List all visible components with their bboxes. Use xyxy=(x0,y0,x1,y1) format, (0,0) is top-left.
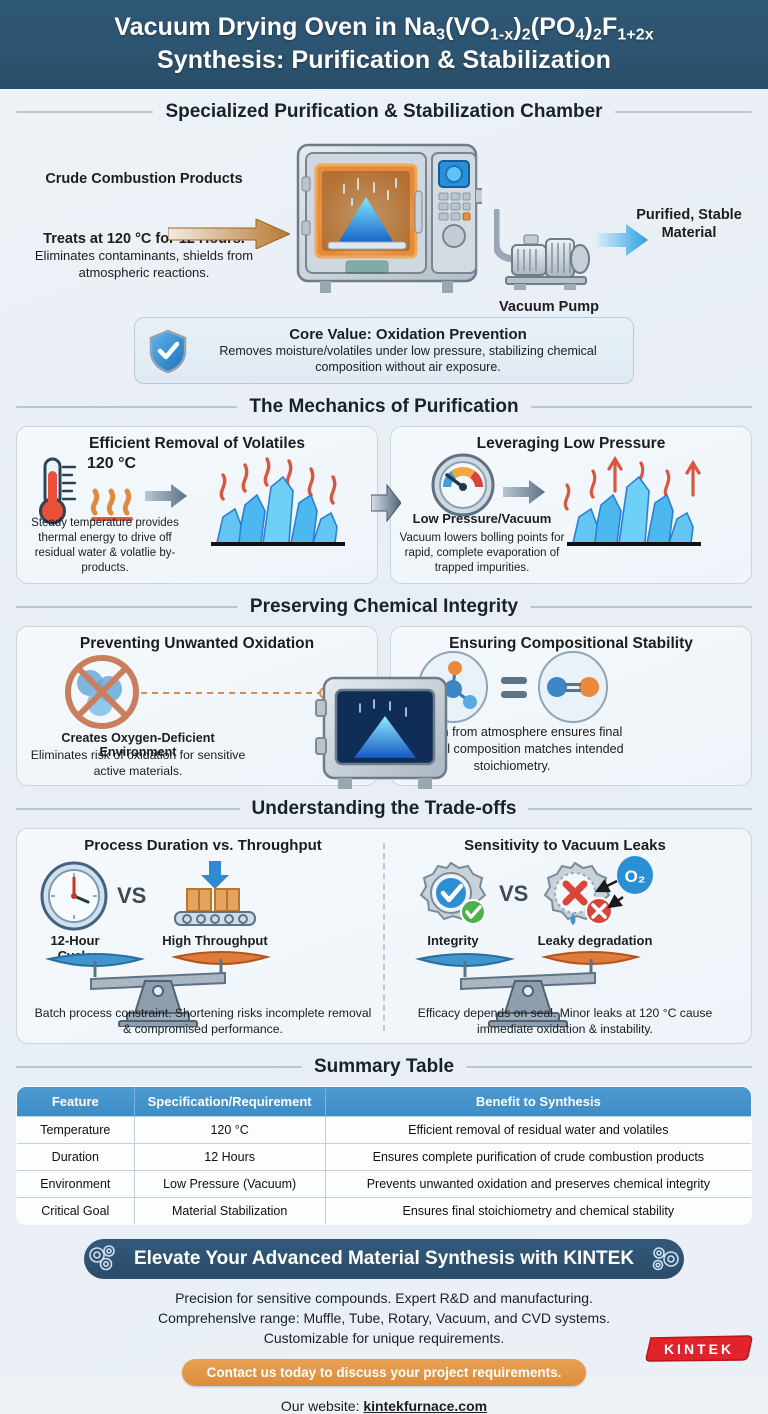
rule-right xyxy=(531,406,752,408)
card-description: Batch process constraint. Shortening ris… xyxy=(29,1006,377,1038)
website-prefix: Our website: xyxy=(281,1398,363,1414)
tradeoffs-card: Process Duration vs. Throughput VS xyxy=(16,828,752,1044)
right-pan-label: High Throughput xyxy=(155,933,275,948)
card-title: Sensitivity to Vacuum Leaks xyxy=(393,837,737,854)
cta-sub-line2: Comprehenslve range: Muffle, Tube, Rotar… xyxy=(0,1309,768,1329)
rule-left xyxy=(16,406,237,408)
card-title: Preventing Unwanted Oxidation xyxy=(27,635,367,653)
crude-input-label: Crude Combustion Products xyxy=(24,171,264,188)
rule-left xyxy=(16,111,153,113)
svg-text:KINTEK: KINTEK xyxy=(664,1341,734,1357)
crystal-vapor-icon xyxy=(545,445,721,549)
mechanics-row: Efficient Removal of Volatiles 120 °C xyxy=(0,426,768,584)
section-heading-chamber: Specialized Purification & Stabilization… xyxy=(0,101,768,123)
rule-right xyxy=(528,808,752,810)
card-description: Steady temperature provides thermal ener… xyxy=(25,516,185,576)
leak-degradation-icon: O₂ xyxy=(539,853,657,935)
page-header: Vacuum Drying Oven in Na3(VO1-x)2(PO4)2F… xyxy=(0,0,768,89)
right-arrow-icon xyxy=(503,479,545,505)
page-title-line2: Synthesis: Purification & Stabilization xyxy=(157,46,611,74)
cell-spec: Material Stabilization xyxy=(134,1198,325,1225)
tradeoff-vacuum-leaks: Sensitivity to Vacuum Leaks VS xyxy=(387,837,743,1037)
summary-table-wrap: Feature Specification/Requirement Benefi… xyxy=(0,1086,768,1225)
treats-description: Eliminates contaminants, shields from at… xyxy=(24,248,264,282)
col-specification: Specification/Requirement xyxy=(134,1087,325,1117)
output-label: Purified, Stable Material xyxy=(614,207,764,242)
core-value-box: Core Value: Oxidation Prevention Removes… xyxy=(134,317,634,384)
table-row: Duration 12 Hours Ensures complete purif… xyxy=(17,1144,752,1171)
table-row: Temperature 120 °C Efficient removal of … xyxy=(17,1117,752,1144)
shield-check-icon xyxy=(149,329,187,373)
summary-table: Feature Specification/Requirement Benefi… xyxy=(16,1086,752,1225)
cell-feature: Environment xyxy=(17,1171,135,1198)
card-low-pressure: Leveraging Low Pressure xyxy=(390,426,752,584)
table-body: Temperature 120 °C Efficient removal of … xyxy=(17,1117,752,1225)
section-heading-summary: Summary Table xyxy=(0,1056,768,1078)
chamber-diagram: Crude Combustion Products Treats at 120 … xyxy=(0,131,768,311)
crystal-evaporation-icon xyxy=(187,447,363,549)
website-line: Our website: kintekfurnace.com xyxy=(0,1398,768,1414)
cta-banner: Elevate Your Advanced Material Synthesis… xyxy=(84,1239,684,1279)
card-efficient-removal: Efficient Removal of Volatiles 120 °C xyxy=(16,426,378,584)
cta-title: Elevate Your Advanced Material Synthesis… xyxy=(134,1248,634,1270)
vacuum-pump-icon xyxy=(494,209,604,299)
clock-icon xyxy=(39,861,109,931)
card-subtitle: Low Pressure/Vacuum xyxy=(399,511,565,526)
cta-sub-line1: Precision for sensitive compounds. Exper… xyxy=(0,1289,768,1309)
pump-label: Vacuum Pump xyxy=(494,299,604,316)
cell-feature: Temperature xyxy=(17,1117,135,1144)
cell-benefit: Prevents unwanted oxidation and preserve… xyxy=(325,1171,751,1198)
integrity-seal-icon xyxy=(411,859,493,933)
gears-icon xyxy=(86,1245,120,1273)
connector-dashed-line xyxy=(141,687,331,699)
stage-arrow-icon xyxy=(371,484,401,522)
section-heading-tradeoffs: Understanding the Trade-offs xyxy=(0,798,768,820)
left-pan-label: Integrity xyxy=(403,933,503,948)
col-feature: Feature xyxy=(17,1087,135,1117)
col-benefit: Benefit to Synthesis xyxy=(325,1087,751,1117)
cell-feature: Critical Goal xyxy=(17,1198,135,1225)
no-oxygen-icon xyxy=(63,653,141,731)
chamber-output-block: Purified, Stable Material xyxy=(614,207,764,242)
table-row: Critical Goal Material Stabilization Ens… xyxy=(17,1198,752,1225)
sealed-oven-icon xyxy=(310,676,460,791)
svg-text:O₂: O₂ xyxy=(625,867,646,886)
section-title: Preserving Chemical Integrity xyxy=(250,596,518,618)
section-title: The Mechanics of Purification xyxy=(249,396,518,418)
input-arrow-icon xyxy=(168,219,290,249)
cell-benefit: Efficient removal of residual water and … xyxy=(325,1117,751,1144)
cell-feature: Duration xyxy=(17,1144,135,1171)
section-heading-mechanics: The Mechanics of Purification xyxy=(0,396,768,418)
rule-left xyxy=(16,606,238,608)
vacuum-oven-icon xyxy=(292,139,482,297)
cell-benefit: Ensures final stoichiometry and chemical… xyxy=(325,1198,751,1225)
pressure-gauge-icon xyxy=(431,453,495,517)
section-title: Specialized Purification & Stabilization… xyxy=(165,101,602,123)
rule-right xyxy=(530,606,752,608)
conveyor-throughput-icon xyxy=(161,859,269,931)
rule-right xyxy=(615,111,752,113)
card-description: Efficacy depends on seal. Minor leaks at… xyxy=(391,1006,739,1038)
cell-spec: Low Pressure (Vacuum) xyxy=(134,1171,325,1198)
cell-spec: 12 Hours xyxy=(134,1144,325,1171)
section-title: Summary Table xyxy=(314,1056,454,1078)
card-description: Eliminates risk of oxidation for sensiti… xyxy=(23,748,253,780)
section-heading-integrity: Preserving Chemical Integrity xyxy=(0,596,768,618)
card-title: Process Duration vs. Throughput xyxy=(31,837,375,854)
contact-button[interactable]: Contact us today to discuss your project… xyxy=(182,1359,586,1386)
temperature-value: 120 °C xyxy=(87,455,136,473)
gears-icon xyxy=(648,1245,682,1273)
core-value-title: Core Value: Oxidation Prevention xyxy=(197,326,619,343)
vertical-divider xyxy=(383,843,385,1031)
card-description: Vacuum lowers bolling points for rapid, … xyxy=(399,531,565,576)
cell-spec: 120 °C xyxy=(134,1117,325,1144)
cell-benefit: Ensures complete purification of crude c… xyxy=(325,1144,751,1171)
rule-right xyxy=(466,1066,752,1068)
kintek-logo: KINTEK xyxy=(644,1332,754,1364)
rule-left xyxy=(16,808,240,810)
website-url[interactable]: kintekfurnace.com xyxy=(363,1398,487,1414)
table-row: Environment Low Pressure (Vacuum) Preven… xyxy=(17,1171,752,1198)
table-header-row: Feature Specification/Requirement Benefi… xyxy=(17,1087,752,1117)
vs-label: VS xyxy=(499,881,528,907)
page-title: Vacuum Drying Oven in Na3(VO1-x)2(PO4)2F… xyxy=(22,12,746,75)
section-title: Understanding the Trade-offs xyxy=(252,798,517,820)
core-value-desc: Removes moisture/volatiles under low pre… xyxy=(197,343,619,375)
right-arrow-icon xyxy=(145,483,187,509)
rule-left xyxy=(16,1066,302,1068)
right-pan-label: Leaky degradation xyxy=(525,933,665,948)
infographic-page: Vacuum Drying Oven in Na3(VO1-x)2(PO4)2F… xyxy=(0,0,768,1376)
integrity-row: Preventing Unwanted Oxidation Creates Ox… xyxy=(0,626,768,786)
vs-label: VS xyxy=(117,883,146,909)
tradeoff-duration: Process Duration vs. Throughput VS xyxy=(25,837,381,1037)
table-header: Feature Specification/Requirement Benefi… xyxy=(17,1087,752,1117)
